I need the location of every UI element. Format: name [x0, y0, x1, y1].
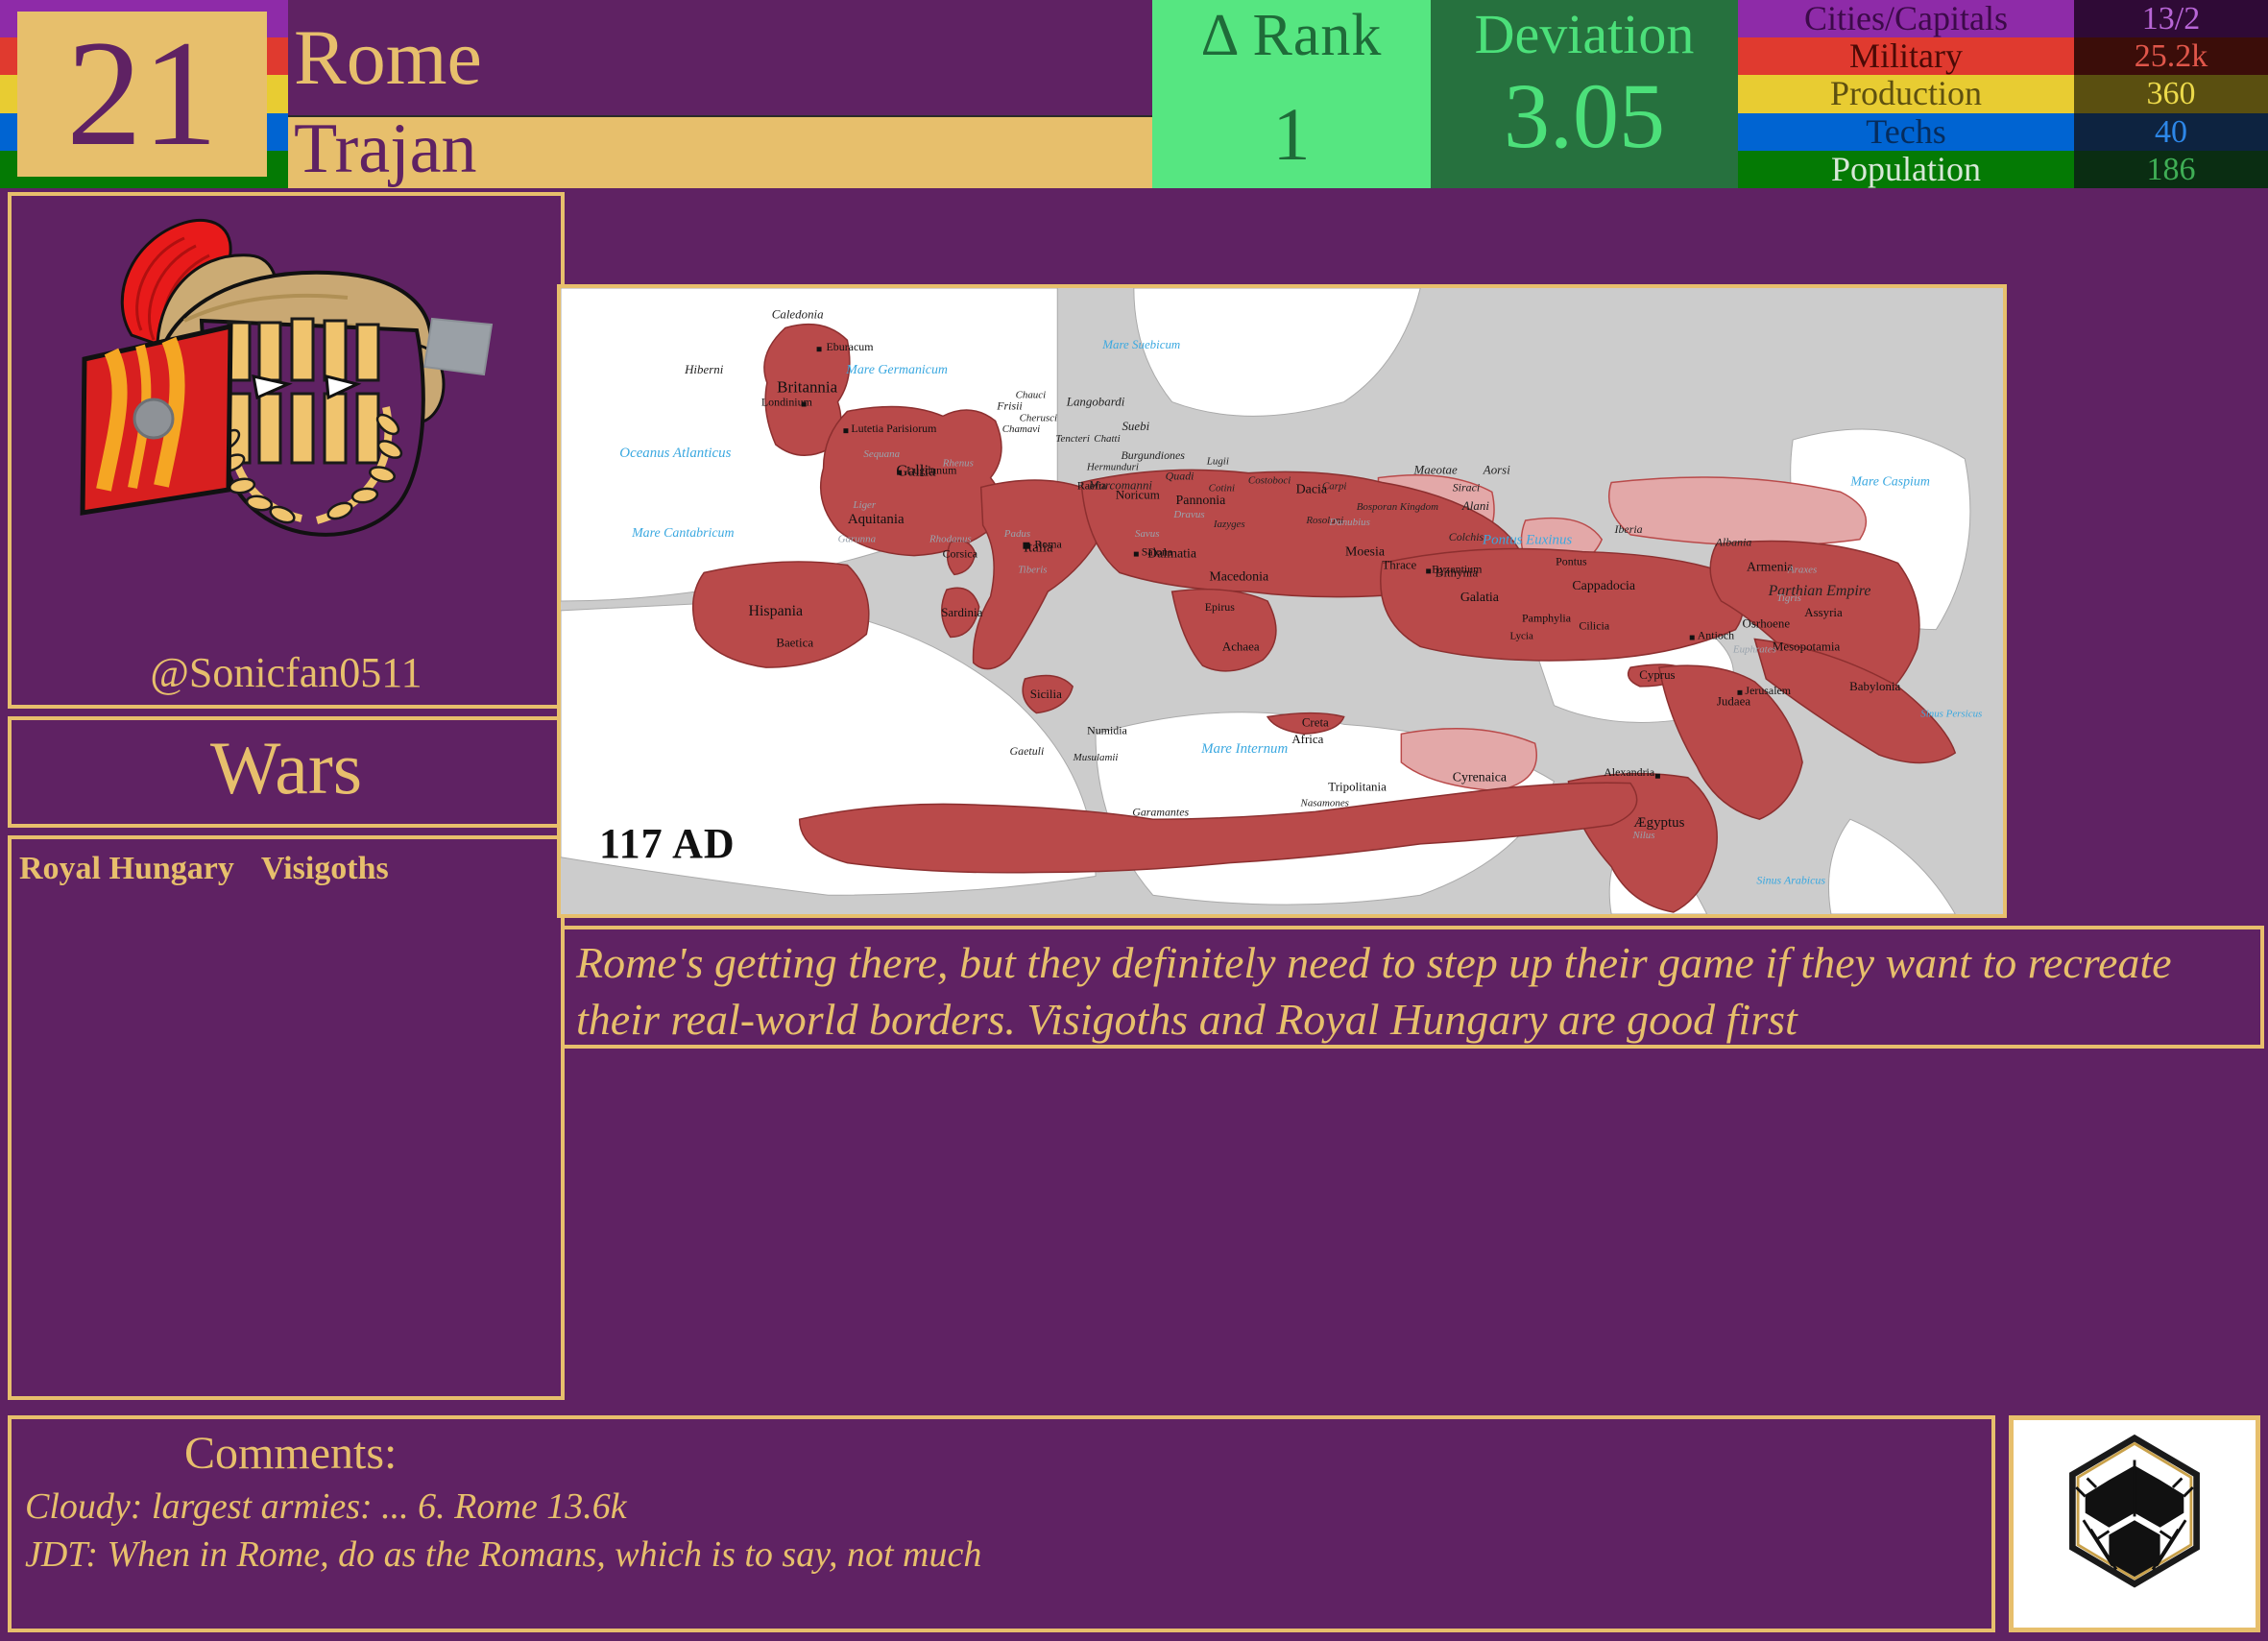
svg-text:Jerusalem: Jerusalem [1745, 684, 1791, 697]
stat-value: 25.2k [2074, 37, 2268, 75]
svg-text:Euphrates: Euphrates [1732, 643, 1776, 655]
rank-delta-panel: Δ Rank 1 [1152, 0, 1431, 188]
svg-text:Mare Caspium: Mare Caspium [1849, 475, 1930, 490]
svg-text:Ægyptus: Ægyptus [1633, 815, 1684, 831]
svg-text:Maeotae: Maeotae [1413, 464, 1458, 477]
stat-row-techs: Techs40 [1738, 113, 2268, 151]
hexagon-cluster-logo-icon [2043, 1433, 2226, 1615]
svg-text:Mare Germanicum: Mare Germanicum [845, 363, 948, 377]
comments-title: Comments: [12, 1419, 1991, 1480]
title-block: Rome Trajan [288, 0, 1152, 188]
svg-text:Burgundiones: Burgundiones [1122, 448, 1186, 462]
stat-value: 13/2 [2074, 0, 2268, 37]
svg-text:Chauci: Chauci [1016, 390, 1047, 401]
svg-text:Corsica: Corsica [943, 547, 978, 561]
svg-text:Aquitania: Aquitania [848, 512, 905, 527]
leader-name-row: Trajan [288, 115, 1152, 188]
svg-text:Hermunduri: Hermunduri [1086, 462, 1139, 473]
svg-text:Pontus: Pontus [1556, 554, 1587, 567]
deviation-panel: Deviation 3.05 [1431, 0, 1738, 188]
wars-header: Wars [8, 716, 565, 828]
svg-text:Araxes: Araxes [1787, 564, 1817, 575]
stat-row-cities-capitals: Cities/Capitals13/2 [1738, 0, 2268, 37]
svg-text:Musulamii: Musulamii [1073, 752, 1119, 763]
svg-text:Sinus Arabicus: Sinus Arabicus [1756, 873, 1825, 886]
description-text: Rome's getting there, but they definitel… [565, 929, 2260, 1049]
stat-row-production: Production360 [1738, 75, 2268, 112]
svg-text:Siraci: Siraci [1453, 480, 1480, 494]
svg-text:Eburacum: Eburacum [827, 340, 875, 353]
stat-label: Cities/Capitals [1738, 0, 2074, 37]
svg-text:Byzantium: Byzantium [1432, 562, 1483, 575]
svg-text:Suebi: Suebi [1122, 420, 1149, 433]
svg-text:Gaetuli: Gaetuli [1010, 744, 1045, 758]
svg-text:Epirus: Epirus [1205, 600, 1235, 614]
svg-text:Cappadocia: Cappadocia [1572, 579, 1635, 593]
svg-text:Mesopotamia: Mesopotamia [1773, 640, 1841, 653]
svg-text:Osrhoene: Osrhoene [1743, 617, 1791, 631]
svg-text:Armenia: Armenia [1747, 560, 1794, 574]
svg-text:Assyria: Assyria [1804, 606, 1843, 619]
comments-list: Cloudy: largest armies: ... 6. Rome 13.6… [12, 1480, 1991, 1576]
svg-text:Lutetia Parisiorum: Lutetia Parisiorum [851, 422, 937, 435]
avatar-panel: @Sonicfan0511 [8, 192, 565, 709]
deviation-value: 3.05 [1504, 70, 1665, 162]
svg-text:Mare Internum: Mare Internum [1200, 741, 1288, 757]
map-year-label: 117 AD [599, 819, 736, 868]
svg-text:Alani: Alani [1461, 499, 1489, 513]
svg-text:Rhodanus: Rhodanus [929, 534, 972, 545]
svg-text:Roma: Roma [1034, 538, 1062, 551]
svg-text:Lugii: Lugii [1206, 456, 1229, 468]
map-panel: Britannia Gallia Aquitania Hispania Baet… [557, 284, 2007, 918]
svg-text:Cyrenaica: Cyrenaica [1453, 771, 1507, 785]
rank-number: 21 [66, 30, 218, 158]
stat-value: 360 [2074, 75, 2268, 112]
svg-text:Britannia: Britannia [777, 378, 837, 397]
roman-empire-map: Britannia Gallia Aquitania Hispania Baet… [561, 288, 2003, 914]
svg-text:Garamantes: Garamantes [1132, 805, 1189, 818]
stat-value: 186 [2074, 151, 2268, 188]
header-bar: 21 Rome Trajan Δ Rank 1 Deviation 3.05 C… [0, 0, 2268, 188]
svg-text:Aorsi: Aorsi [1483, 464, 1510, 477]
svg-text:Macedonia: Macedonia [1209, 569, 1268, 584]
svg-text:Salona: Salona [1142, 545, 1173, 559]
comment-line: JDT: When in Rome, do as the Romans, whi… [12, 1528, 1991, 1576]
svg-text:Nasamones: Nasamones [1300, 797, 1349, 808]
svg-text:Babylonia: Babylonia [1849, 680, 1900, 693]
stat-value: 40 [2074, 113, 2268, 151]
stat-row-population: Population186 [1738, 151, 2268, 188]
left-sidebar: @Sonicfan0511 Wars Royal HungaryVisigoth… [8, 192, 565, 1400]
svg-text:Moesia: Moesia [1345, 545, 1385, 560]
svg-text:Albania: Albania [1715, 536, 1752, 549]
stat-label: Techs [1738, 113, 2074, 151]
svg-text:Achaea: Achaea [1222, 640, 1260, 653]
svg-text:Oceanus Atlanticus: Oceanus Atlanticus [619, 446, 731, 461]
svg-text:Baetica: Baetica [776, 636, 813, 649]
svg-text:Pontus Euxinus: Pontus Euxinus [1482, 533, 1572, 548]
svg-text:Quadi: Quadi [1166, 470, 1194, 483]
svg-text:Sinus Persicus: Sinus Persicus [1920, 709, 1982, 720]
svg-text:Thrace: Thrace [1382, 558, 1416, 571]
svg-text:Alexandria: Alexandria [1604, 765, 1655, 779]
svg-text:Cilicia: Cilicia [1579, 619, 1609, 633]
comments-panel: Comments: Cloudy: largest armies: ... 6.… [8, 1415, 1995, 1632]
svg-text:Chamavi: Chamavi [1002, 423, 1040, 435]
svg-text:Tigris: Tigris [1776, 592, 1801, 604]
svg-text:Savus: Savus [1135, 528, 1160, 540]
svg-text:Nilus: Nilus [1631, 830, 1654, 841]
svg-text:Padus: Padus [1003, 528, 1030, 540]
svg-text:Lycia: Lycia [1510, 631, 1533, 642]
svg-text:Bosporan Kingdom: Bosporan Kingdom [1357, 501, 1438, 513]
svg-text:Tiberis: Tiberis [1018, 564, 1047, 575]
svg-text:Sardinia: Sardinia [941, 606, 982, 619]
svg-text:Iberia: Iberia [1614, 522, 1643, 536]
svg-text:Creta: Creta [1302, 715, 1329, 729]
stat-row-military: Military25.2k [1738, 37, 2268, 75]
svg-text:Garunna: Garunna [838, 534, 877, 545]
svg-text:Marcomanni: Marcomanni [1088, 478, 1153, 492]
svg-text:Dravus: Dravus [1172, 509, 1204, 520]
svg-text:Hiberni: Hiberni [684, 363, 724, 376]
avatar [40, 205, 540, 590]
wars-title: Wars [210, 731, 362, 806]
svg-text:Africa: Africa [1291, 733, 1323, 746]
comment-line: Cloudy: largest armies: ... 6. Rome 13.6… [12, 1480, 1991, 1528]
svg-text:Numidia: Numidia [1087, 723, 1127, 736]
svg-text:Caledonia: Caledonia [772, 308, 824, 322]
war-item[interactable]: Royal Hungary [19, 851, 234, 887]
svg-text:Antioch: Antioch [1698, 629, 1734, 642]
stat-label: Population [1738, 151, 2074, 188]
rank-delta-label: Δ Rank [1201, 2, 1383, 70]
svg-text:Sequana: Sequana [863, 448, 900, 460]
sword-icon [424, 319, 492, 374]
leaderboard-card: 21 Rome Trajan Δ Rank 1 Deviation 3.05 C… [0, 0, 2268, 1641]
svg-text:Danubius: Danubius [1328, 517, 1370, 528]
rank-delta-value: 1 [1273, 91, 1311, 178]
nation-name: Rome [288, 12, 482, 103]
channel-logo-box [2009, 1415, 2260, 1632]
svg-text:Pannonia: Pannonia [1176, 494, 1226, 508]
svg-text:Costoboci: Costoboci [1248, 475, 1291, 487]
stats-table: Cities/Capitals13/2Military25.2kProducti… [1738, 0, 2268, 188]
deviation-label: Deviation [1475, 2, 1695, 66]
svg-text:Tripolitania: Tripolitania [1328, 781, 1387, 794]
stat-label: Military [1738, 37, 2074, 75]
scutum-shield-icon [83, 326, 230, 513]
nation-name-row: Rome [288, 0, 1152, 115]
svg-text:Chatti: Chatti [1094, 433, 1120, 445]
svg-text:Carpi: Carpi [1322, 480, 1347, 492]
stat-label: Production [1738, 75, 2074, 112]
wars-list: Royal HungaryVisigoths [8, 835, 565, 1400]
svg-text:Londinium: Londinium [761, 396, 813, 409]
svg-text:Iazyges: Iazyges [1213, 519, 1245, 530]
svg-text:Liger: Liger [852, 499, 876, 511]
svg-text:Cyprus: Cyprus [1639, 668, 1675, 682]
war-item[interactable]: Visigoths [261, 851, 389, 887]
svg-text:Mare Suebicum: Mare Suebicum [1101, 338, 1180, 351]
svg-text:Sicilia: Sicilia [1030, 688, 1062, 701]
svg-text:Pamphylia: Pamphylia [1522, 612, 1572, 625]
svg-text:Mare Cantabricum: Mare Cantabricum [631, 526, 734, 541]
svg-text:Lugdunum: Lugdunum [906, 464, 957, 477]
svg-text:Cotini: Cotini [1209, 482, 1235, 494]
rank-badge: 21 [17, 12, 267, 177]
svg-text:Galatia: Galatia [1460, 591, 1499, 605]
svg-text:Hispania: Hispania [749, 603, 804, 619]
svg-text:Cherusci: Cherusci [1020, 412, 1057, 423]
wars-row: Royal HungaryVisigoths [12, 839, 561, 887]
user-handle: @Sonicfan0511 [12, 648, 561, 697]
svg-text:Langobardi: Langobardi [1066, 396, 1125, 409]
leader-name: Trajan [288, 113, 477, 184]
svg-text:Colchis: Colchis [1449, 530, 1484, 543]
description-panel: Rome's getting there, but they definitel… [561, 926, 2264, 1049]
svg-text:Tencteri: Tencteri [1055, 433, 1089, 445]
